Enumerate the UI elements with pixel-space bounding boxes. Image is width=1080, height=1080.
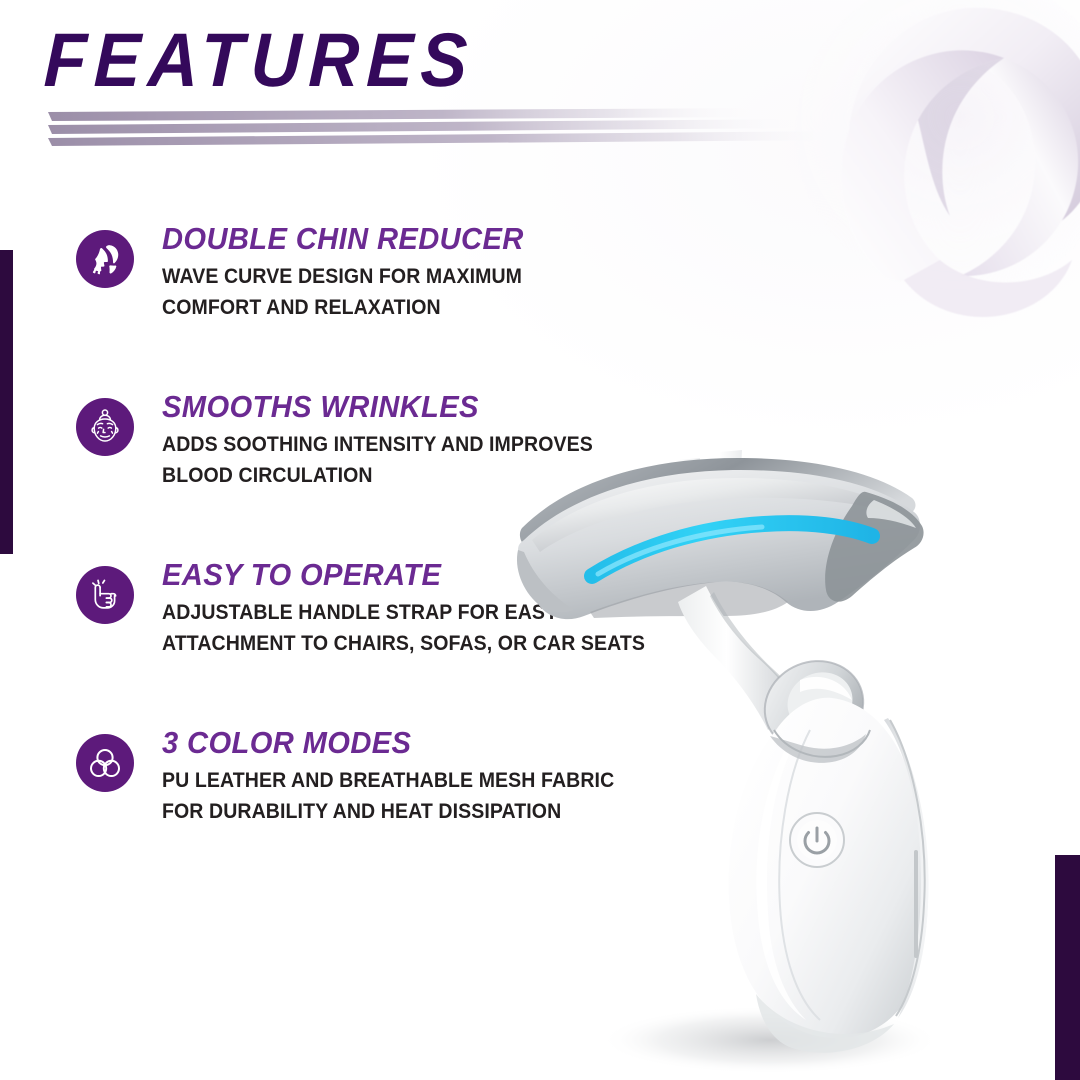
- left-accent-bar: [0, 250, 13, 554]
- feature-description: WAVE CURVE DESIGN FOR MAXIMUM COMFORT AN…: [162, 262, 659, 323]
- right-accent-bar: [1055, 855, 1080, 1080]
- page-title: FEATURES: [43, 22, 745, 100]
- wrinkled-face-icon: [76, 398, 134, 456]
- feature-poster: FEATURES: [0, 0, 1080, 1080]
- feature-title: DOUBLE CHIN REDUCER: [162, 222, 664, 255]
- power-button[interactable]: [790, 813, 844, 867]
- tapping-hand-icon: [76, 566, 134, 624]
- feature-item-double-chin-reducer: DOUBLE CHIN REDUCER WAVE CURVE DESIGN FO…: [76, 222, 696, 372]
- neck-and-face-lifting-device: [470, 400, 1030, 1080]
- ribbon-swirl-graphic: [790, 0, 1080, 318]
- three-overlapping-circles-icon: [76, 734, 134, 792]
- feature-desc-line: WAVE CURVE DESIGN FOR MAXIMUM: [162, 262, 659, 292]
- device-head: [517, 458, 924, 619]
- feature-desc-line: COMFORT AND RELAXATION: [162, 293, 659, 323]
- page-header: FEATURES: [44, 22, 804, 100]
- face-profile-chin-icon: [76, 230, 134, 288]
- device-handle: [729, 698, 929, 1053]
